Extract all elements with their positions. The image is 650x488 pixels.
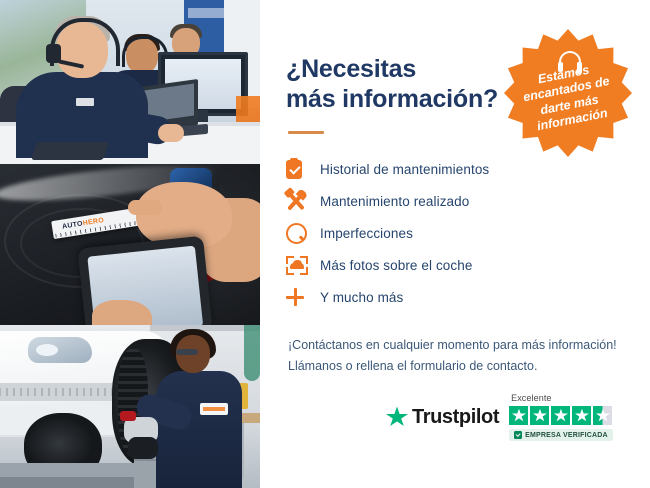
agent-one-name-badge [76,98,94,106]
contact-copy-line-one: ¡Contáctanos en cualquier momento para m… [288,335,622,356]
feature-list: Historial de mantenimientos Mantenimient… [286,153,622,313]
list-item-maintenance-history: Historial de mantenimientos [286,153,622,185]
call-center-agents-photo [0,0,260,164]
list-item-maintenance-done: Mantenimiento realizado [286,185,622,217]
car-headlight [28,337,92,363]
title-underline-rule [288,131,324,134]
feature-label: Y mucho más [320,290,403,305]
car-photo-frame-icon [286,256,320,275]
tools-cross-icon [286,191,320,211]
inspection-tool [120,411,136,421]
plus-icon [286,288,320,306]
feature-label: Historial de mantenimientos [320,162,489,177]
headline-line-one: ¿Necesitas [286,55,416,83]
clipboard-check-icon [286,160,320,179]
safety-glasses [176,349,198,355]
information-banner: AUTOHERO [0,0,650,488]
star-tile [509,406,528,425]
contact-copy: ¡Contáctanos en cualquier momento para m… [288,335,622,376]
verified-label: EMPRESA VERIFICADA [525,432,608,439]
list-item-imperfections: Imperfecciones [286,217,622,249]
list-item-more-photos: Más fotos sobre el coche [286,249,622,281]
trustpilot-star-icon [386,407,408,428]
star-tile [551,406,570,425]
feature-label: Mantenimiento realizado [320,194,469,209]
check-icon [514,431,522,439]
technician-glove-lower [128,437,158,459]
green-hose [244,325,260,381]
magnifier-drop-icon [286,223,320,244]
car-lift-base [0,477,150,488]
star-rating [509,406,612,425]
headline-line-two: más información? [286,85,498,113]
status-badge: Estamos encantados de darte más informac… [504,29,632,157]
page-title: ¿Necesitas más información? [286,54,521,114]
trustpilot-widget[interactable]: Trustpilot Excelente EMPRESA VERIFICADA [386,386,626,448]
technician-body [156,371,242,488]
car-inspection-ruler-photo: AUTOHERO [0,164,260,325]
rating-label: Excelente [511,393,551,403]
feature-label: Imperfecciones [320,226,413,241]
agent-one-hand [158,124,184,142]
inspector-finger [128,200,162,215]
star-tile [572,406,591,425]
star-tile [530,406,549,425]
trustpilot-logo[interactable]: Trustpilot [386,406,499,429]
contact-copy-line-two: Llámanos o rellena el formulario de cont… [288,356,622,377]
feature-label: Más fotos sobre el coche [320,258,472,273]
star-tile-half [593,406,612,425]
verified-badge: EMPRESA VERIFICADA [509,429,613,441]
wheel-inspection-photo [0,325,260,488]
trustpilot-wordmark: Trustpilot [412,406,499,429]
trustpilot-rating: Excelente EMPRESA VERIFICADA [509,393,613,441]
technician-logo-badge [200,403,228,415]
photo-column: AUTOHERO [0,0,260,488]
desk-tablet [31,142,109,160]
list-item-much-more: Y mucho más [286,281,622,313]
